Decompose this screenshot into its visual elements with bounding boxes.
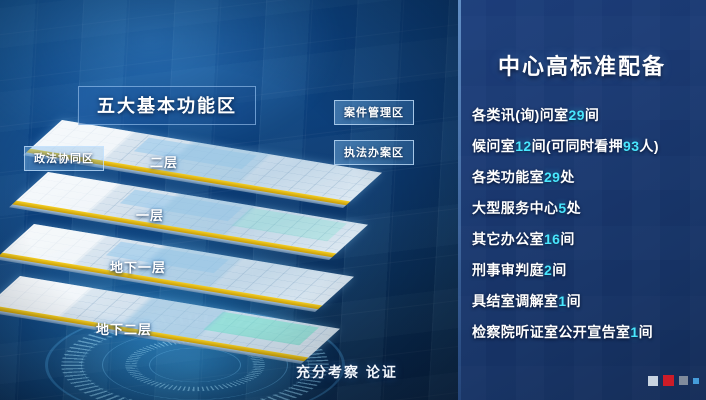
spec-text: 间: [639, 324, 653, 340]
presentation-slide: 二层 一层 地下一层 地下二层 五大基本功能区 案件管理区 执法办案区 政法协同…: [0, 0, 706, 400]
zone-tag-case-management[interactable]: 案件管理区: [334, 100, 414, 125]
spec-text: 间: [585, 107, 599, 123]
spec-text: 具结室调解室: [472, 293, 558, 309]
panel-title: 中心高标准配备: [458, 49, 706, 81]
spec-number: 16: [544, 231, 560, 247]
list-item: 各类讯(询)问室29间: [472, 108, 700, 122]
list-item: 具结室调解室1间: [472, 294, 700, 308]
indicator-squares: [648, 375, 699, 386]
floor-label-b2: 地下二层: [96, 319, 152, 338]
floor-label-1f: 一层: [136, 205, 164, 224]
spec-text: 人): [639, 138, 658, 154]
list-item: 检察院听证室公开宣告室1间: [472, 325, 700, 339]
list-item: 其它办公室16间: [472, 232, 700, 246]
indicator-gray: [679, 376, 688, 385]
spec-text: 间: [567, 293, 581, 309]
scene-caption: 充分考察 论证: [296, 362, 398, 382]
spec-number: 29: [544, 169, 560, 185]
spec-text: 各类讯(询)问室: [472, 107, 569, 123]
list-item: 大型服务中心5处: [472, 201, 700, 215]
spec-text: 间(可同时看押: [532, 138, 623, 154]
spec-text: 间: [560, 231, 574, 247]
spec-text: 候问室: [472, 138, 515, 154]
floor-label-2f: 二层: [150, 152, 178, 171]
spec-text: 检察院听证室公开宣告室: [472, 324, 630, 340]
list-item: 各类功能室29处: [472, 170, 700, 184]
spec-number: 93: [623, 138, 639, 154]
zone-tag-judicial-coordination[interactable]: 政法协同区: [24, 146, 104, 171]
spec-text: 大型服务中心: [472, 200, 558, 216]
spec-text: 刑事审判庭: [472, 262, 544, 278]
indicator-blue: [693, 378, 699, 384]
building-3d-scene: 二层 一层 地下一层 地下二层 五大基本功能区 案件管理区 执法办案区 政法协同…: [0, 0, 460, 400]
spec-number: 29: [569, 107, 585, 123]
list-item: 候问室12间(可同时看押93人): [472, 139, 700, 153]
indicator-red: [663, 375, 674, 386]
scene-title: 五大基本功能区: [78, 86, 256, 125]
spec-number: 1: [558, 293, 566, 309]
spec-number: 2: [544, 262, 552, 278]
floor-label-b1: 地下一层: [110, 257, 166, 276]
spec-number: 5: [558, 200, 566, 216]
spec-number: 1: [630, 324, 638, 340]
spec-text: 间: [552, 262, 566, 278]
spec-text: 处: [567, 200, 581, 216]
info-panel: 中心高标准配备 各类讯(询)问室29间 候问室12间(可同时看押93人) 各类功…: [458, 0, 706, 400]
spec-text: 处: [560, 169, 574, 185]
spec-text: 各类功能室: [472, 169, 544, 185]
spec-list: 各类讯(询)问室29间 候问室12间(可同时看押93人) 各类功能室29处 大型…: [472, 108, 700, 356]
spec-text: 其它办公室: [472, 231, 544, 247]
indicator-white: [648, 376, 658, 386]
scene-vignette: [0, 0, 460, 400]
zone-tag-law-enforcement[interactable]: 执法办案区: [334, 140, 414, 165]
spec-number: 12: [515, 138, 531, 154]
list-item: 刑事审判庭2间: [472, 263, 700, 277]
